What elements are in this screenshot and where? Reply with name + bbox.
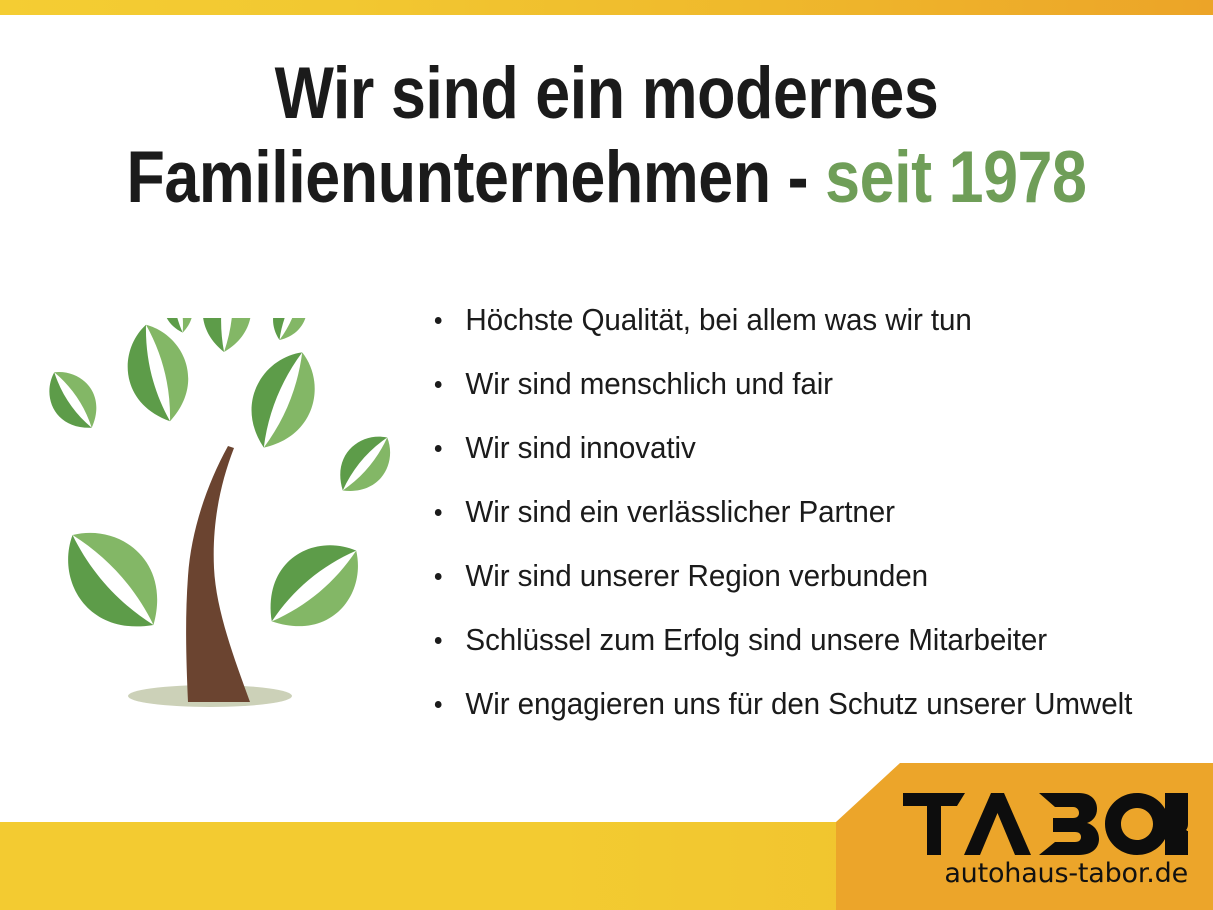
leaf-8 xyxy=(327,424,404,504)
list-item-label: Wir sind ein verlässlicher Partner xyxy=(465,494,894,529)
list-item: Höchste Qualität, bei allem was wir tun xyxy=(432,288,1167,352)
leaf-5 xyxy=(200,318,254,354)
bullet-dot-icon xyxy=(435,381,442,388)
headline-line-2-main: Familienunternehmen - xyxy=(126,137,825,218)
list-item-label: Wir sind innovativ xyxy=(465,430,695,465)
list-item-label: Wir sind menschlich und fair xyxy=(465,366,833,401)
slide-root: Wir sind ein modernes Familienunternehme… xyxy=(0,0,1213,910)
leaf-4 xyxy=(159,318,197,335)
leaf-1 xyxy=(45,510,182,650)
value-bullet-list: Höchste Qualität, bei allem was wir tun … xyxy=(432,288,1202,736)
list-item: Wir engagieren uns für den Schutz unsere… xyxy=(432,672,1167,736)
leaf-2 xyxy=(37,360,109,439)
list-item: Wir sind ein verlässlicher Partner xyxy=(432,480,1167,544)
headline-line-1: Wir sind ein modernes xyxy=(85,52,1128,136)
tabor-wordmark xyxy=(903,793,1188,855)
page-title: Wir sind ein modernes Familienunternehme… xyxy=(85,52,1128,220)
leaf-3 xyxy=(117,318,198,428)
list-item-label: Schlüssel zum Erfolg sind unsere Mitarbe… xyxy=(465,622,1047,657)
top-accent-bar xyxy=(0,0,1213,15)
list-item: Wir sind menschlich und fair xyxy=(432,352,1167,416)
logo-tagline: autohaus-tabor.de xyxy=(836,858,1188,889)
list-item-label: Wir engagieren uns für den Schutz unsere… xyxy=(465,686,1132,721)
leaf-7 xyxy=(236,341,329,458)
list-item: Schlüssel zum Erfolg sind unsere Mitarbe… xyxy=(432,608,1167,672)
headline-line-2: Familienunternehmen - seit 1978 xyxy=(85,136,1128,220)
leaf-9 xyxy=(249,524,379,649)
bullet-dot-icon xyxy=(435,445,442,452)
bullet-dot-icon xyxy=(435,317,442,324)
leaf-6 xyxy=(265,318,315,346)
list-item-label: Wir sind unserer Region verbunden xyxy=(465,558,928,593)
list-item-label: Höchste Qualität, bei allem was wir tun xyxy=(465,302,971,337)
headline-accent-year: seit 1978 xyxy=(825,137,1086,218)
bullet-dot-icon xyxy=(435,701,442,708)
list-item: Wir sind innovativ xyxy=(432,416,1167,480)
tree-illustration xyxy=(28,318,420,718)
bullet-dot-icon xyxy=(435,573,442,580)
tree-trunk xyxy=(186,446,250,702)
bullet-dot-icon xyxy=(435,509,442,516)
list-item: Wir sind unserer Region verbunden xyxy=(432,544,1167,608)
bullet-dot-icon xyxy=(435,637,442,644)
